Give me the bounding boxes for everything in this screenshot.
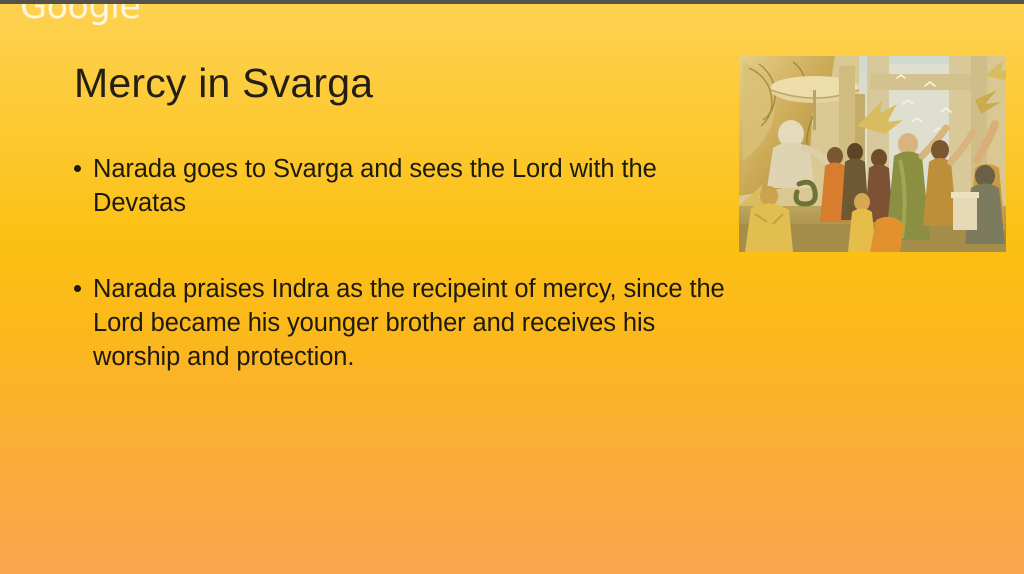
bullet-dot-icon (74, 285, 81, 292)
page-title: Mercy in Svarga (74, 60, 373, 107)
list-item-label: Narada praises Indra as the recipeint of… (93, 275, 725, 371)
presentation-slide: Google Mercy in Svarga Narada goes to Sv… (0, 0, 1024, 574)
list-item-label: Narada goes to Svarga and sees the Lord … (93, 155, 657, 217)
bullet-dot-icon (74, 165, 81, 172)
list-item: Narada goes to Svarga and sees the Lord … (70, 152, 742, 220)
video-frame-top-edge (0, 0, 1024, 4)
slide-illustration-image (739, 56, 1006, 252)
google-watermark-logo: Google (20, 0, 140, 27)
list-item: Narada praises Indra as the recipeint of… (70, 272, 742, 374)
painting-image (739, 56, 1006, 252)
bullet-list: Narada goes to Svarga and sees the Lord … (70, 152, 742, 374)
